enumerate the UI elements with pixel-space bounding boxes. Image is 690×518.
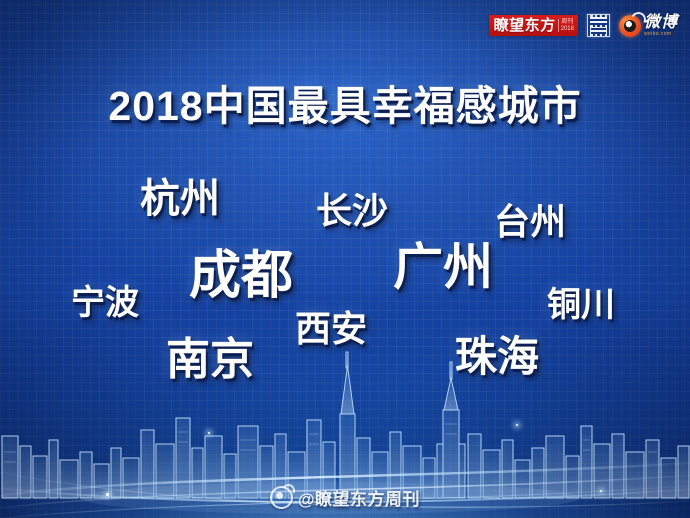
weibo-eye-icon (619, 15, 641, 37)
weibo-eye-icon (270, 486, 293, 509)
watermark-handle: @瞭望东方周刊 (298, 485, 420, 510)
city-name: 珠海 (455, 323, 539, 384)
qr-code-icon[interactable] (587, 14, 610, 37)
city-name: 杭州 (140, 166, 220, 224)
city-name: 西安 (295, 300, 367, 352)
city-name: 广州 (393, 227, 493, 299)
city-name: 铜川 (547, 277, 615, 326)
city-name: 台州 (494, 193, 566, 245)
weibo-logo-text: 微博 weibo.com (644, 15, 678, 37)
magazine-logo-sub-line2: 2018 (561, 26, 574, 32)
page-title: 2018中国最具幸福感城市 (0, 72, 690, 132)
magazine-logo-sub: 周刊 2018 (558, 19, 574, 32)
weibo-logo[interactable]: 微博 weibo.com (619, 15, 678, 37)
magazine-logo[interactable]: 瞭望东方 周刊 2018 (489, 15, 578, 36)
header-logo-bar: 瞭望东方 周刊 2018 微博 weibo.com (489, 14, 678, 37)
city-name: 长沙 (316, 182, 388, 234)
magazine-logo-name: 瞭望东方 (494, 18, 556, 33)
magazine-logo-sub-line1: 周刊 (561, 19, 574, 25)
weibo-logo-name: 微博 (644, 15, 678, 31)
watermark: @瞭望东方周刊 (0, 485, 690, 510)
city-name: 宁波 (71, 275, 139, 324)
city-name: 南京 (166, 323, 254, 387)
city-name: 成都 (189, 233, 293, 308)
poster-canvas: 瞭望东方 周刊 2018 微博 weibo.com 2018中国最具幸福感城市 … (0, 0, 690, 518)
weibo-logo-url: weibo.com (644, 32, 678, 37)
